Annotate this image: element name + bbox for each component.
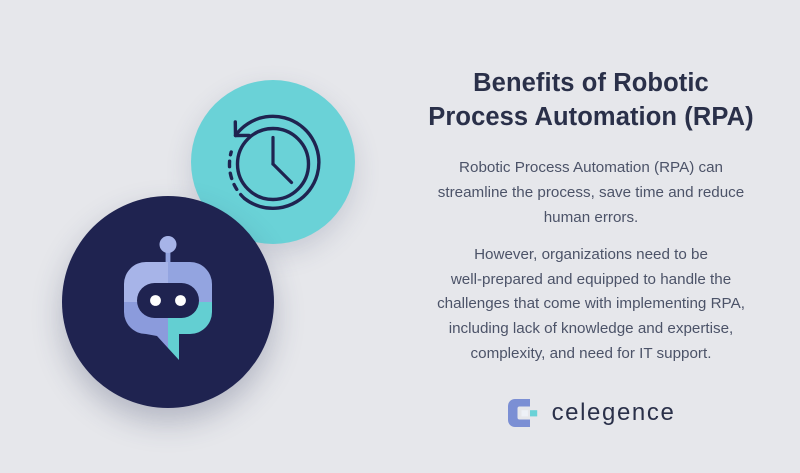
title-line: Process Automation (RPA) — [412, 100, 770, 134]
paragraph-line: challenges that come with implementing R… — [405, 292, 777, 317]
body-paragraphs: Robotic Process Automation (RPA) can str… — [405, 156, 777, 366]
paragraph-line: human errors. — [405, 206, 777, 231]
title-line: Benefits of Robotic — [412, 66, 770, 100]
paragraph-line: streamline the process, save time and re… — [405, 181, 777, 206]
illustration-area — [0, 0, 400, 473]
robot-chatbot-icon — [102, 236, 234, 368]
paragraph-line: complexity, and need for IT support. — [405, 342, 777, 367]
paragraph-line: However, organizations need to be — [405, 243, 777, 268]
celegence-wordmark: celegence — [552, 401, 676, 425]
clock-refresh-icon — [213, 102, 333, 222]
paragraph-line: Robotic Process Automation (RPA) can — [405, 156, 777, 181]
navy-circle — [62, 196, 274, 408]
paragraph-1: Robotic Process Automation (RPA) can str… — [405, 156, 777, 230]
celegence-logo-mark-icon — [507, 398, 541, 428]
paragraph-line: well-prepared and equipped to handle the — [405, 268, 777, 293]
page-title: Benefits of Robotic Process Automation (… — [412, 66, 770, 134]
paragraph-2: However, organizations need to be well-p… — [405, 243, 777, 366]
paragraph-line: including lack of knowledge and expertis… — [405, 317, 777, 342]
infographic-canvas: Benefits of Robotic Process Automation (… — [0, 0, 800, 473]
celegence-logo: celegence — [507, 398, 676, 428]
content-column: Benefits of Robotic Process Automation (… — [382, 0, 800, 473]
